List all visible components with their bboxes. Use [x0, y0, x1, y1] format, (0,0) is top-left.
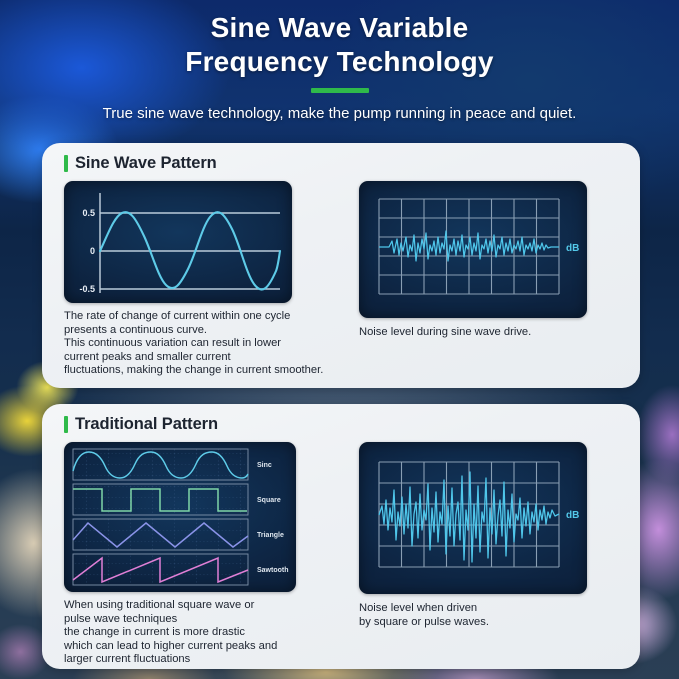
ytick-neg0-5: -0.5 [79, 284, 95, 294]
ytick-0: 0 [90, 246, 95, 256]
title-accent-bar [311, 88, 369, 93]
section-header-sine: Sine Wave Pattern [64, 154, 640, 173]
section-accent-bar-icon [64, 155, 68, 172]
traditional-content-row: Sinc Square Triangle Sawtooth [42, 442, 640, 667]
sine-left-caption: The rate of change of current within one… [64, 310, 349, 378]
sine-wave-chart: 0.5 0 -0.5 [64, 181, 292, 303]
traditional-right-column: dB Noise level when driven by square or … [359, 442, 612, 667]
section-title-sine: Sine Wave Pattern [75, 154, 217, 173]
title-line-2: Frequency Technology [0, 45, 679, 79]
sine-right-caption: Noise level during sine wave drive. [359, 326, 612, 340]
traditional-left-caption: When using traditional square wave or pu… [64, 599, 349, 667]
page-header: Sine Wave Variable Frequency Technology … [0, 0, 679, 137]
db-label-square: dB [566, 510, 579, 521]
waveform-label-triangle: Triangle [257, 532, 284, 539]
db-label-sine: dB [566, 243, 579, 254]
section-accent-bar-icon [64, 416, 68, 433]
card-sine-wave-pattern: Sine Wave Pattern 0.5 0 -0.5 [42, 143, 640, 388]
traditional-left-column: Sinc Square Triangle Sawtooth [64, 442, 349, 667]
waveform-label-square: Square [257, 497, 281, 504]
noise-chart-sine-drive: dB [359, 181, 587, 318]
title-line-1: Sine Wave Variable [0, 11, 679, 45]
ytick-0-5: 0.5 [82, 208, 95, 218]
traditional-waveforms-chart: Sinc Square Triangle Sawtooth [64, 442, 296, 592]
waveform-label-sinc: Sinc [257, 462, 272, 469]
waveform-label-sawtooth: Sawtooth [257, 567, 289, 574]
page-subtitle: True sine wave technology, make the pump… [0, 104, 679, 123]
section-header-traditional: Traditional Pattern [64, 415, 640, 434]
traditional-right-caption: Noise level when driven by square or pul… [359, 602, 612, 629]
sine-right-column: dB Noise level during sine wave drive. [359, 181, 612, 378]
page-root: Sine Wave Variable Frequency Technology … [0, 0, 679, 679]
page-title: Sine Wave Variable Frequency Technology [0, 0, 679, 79]
card-traditional-pattern: Traditional Pattern [42, 404, 640, 669]
noise-chart-square-drive: dB [359, 442, 587, 594]
sine-left-column: 0.5 0 -0.5 The rate of change of current… [64, 181, 349, 378]
sine-content-row: 0.5 0 -0.5 The rate of change of current… [42, 181, 640, 378]
section-title-traditional: Traditional Pattern [75, 415, 218, 434]
